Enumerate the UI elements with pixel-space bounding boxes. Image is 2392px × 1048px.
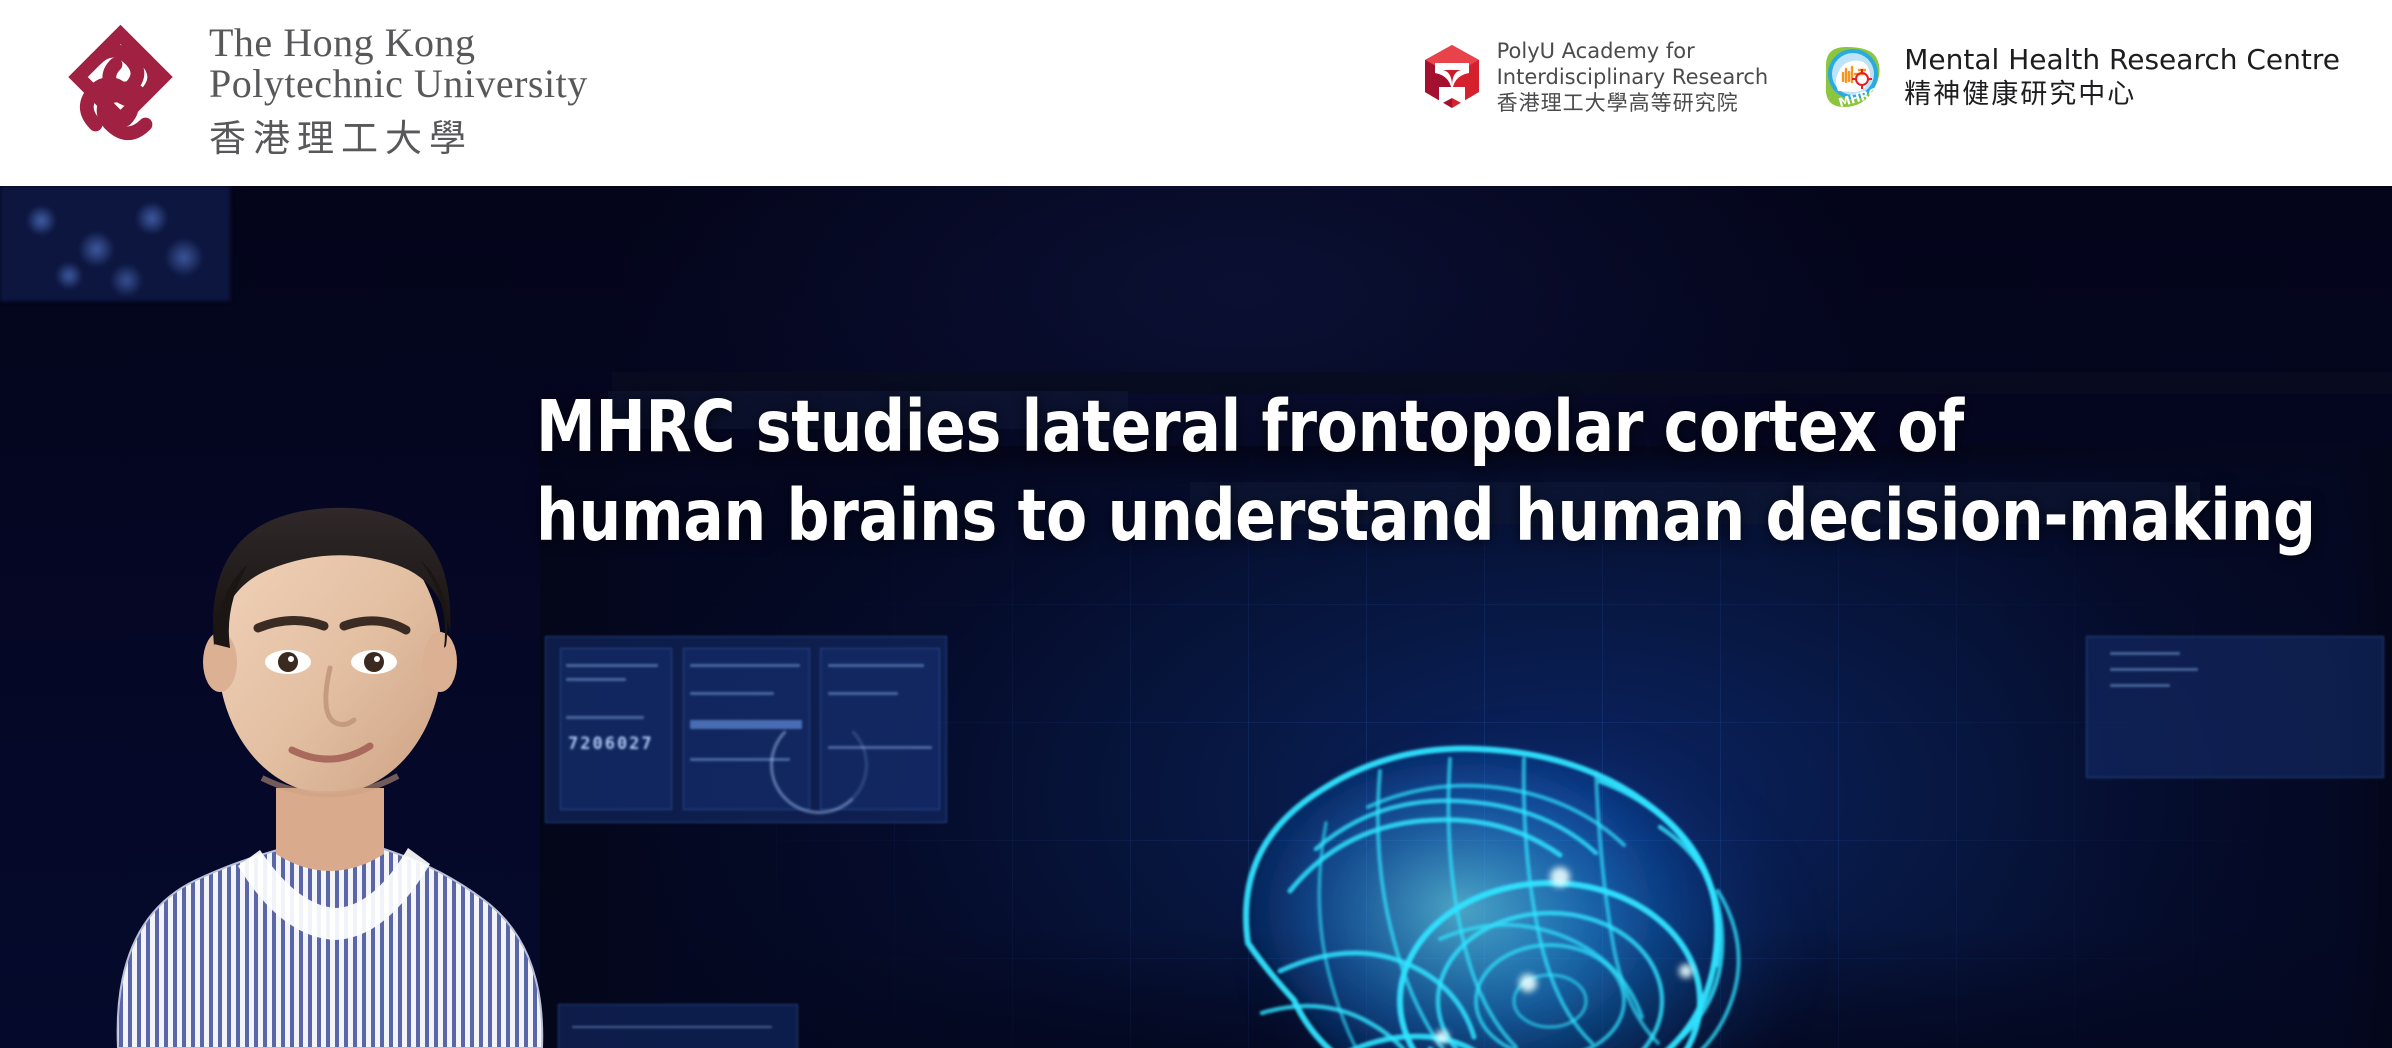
polyu-name-line1: The Hong Kong — [209, 22, 588, 63]
par-name-line2: Interdisciplinary Research — [1497, 64, 1769, 90]
mhrc-logo-lockup[interactable]: MHRC Mental Health Research Centre 精神健康研… — [1814, 39, 2340, 115]
hero-banner: 7206027 DATA CHART BAR INDICATOR — [0, 186, 2392, 1048]
hud-panel-cluster: 7206027 DATA CHART — [0, 186, 230, 301]
researcher-portrait — [110, 406, 550, 1048]
par-logo-lockup[interactable]: PolyU Academy for Interdisciplinary Rese… — [1421, 38, 1769, 116]
header-logos: PolyU Academy for Interdisciplinary Rese… — [1421, 38, 2340, 116]
mhrc-wordmark: Mental Health Research Centre 精神健康研究中心 — [1904, 42, 2340, 111]
site-header: The Hong Kong Polytechnic University 香港理… — [0, 0, 2392, 186]
page-root: The Hong Kong Polytechnic University 香港理… — [0, 0, 2392, 1048]
hud-panel-top-right — [2086, 636, 2384, 778]
hud-serial-number: 7206027 — [568, 734, 654, 754]
par-name-zh: 香港理工大學高等研究院 — [1497, 90, 1769, 116]
mhrc-name-zh: 精神健康研究中心 — [1904, 78, 2340, 112]
par-wordmark: PolyU Academy for Interdisciplinary Rese… — [1497, 38, 1769, 116]
hud-panel-cells — [0, 186, 230, 301]
polyu-name-zh: 香港理工大學 — [209, 108, 588, 162]
headline-line-1: MHRC studies lateral frontopolar cortex … — [536, 382, 2190, 471]
polyu-name-line2: Polytechnic University — [209, 63, 588, 104]
mhrc-head-icon: MHRC — [1814, 39, 1890, 115]
polyu-name-en: The Hong Kong Polytechnic University — [209, 22, 588, 104]
polyu-logo-lockup[interactable]: The Hong Kong Polytechnic University 香港理… — [58, 22, 588, 162]
mhrc-name-en: Mental Health Research Centre — [1904, 42, 2340, 77]
brain-visual — [1130, 641, 1930, 1048]
hud-subpanel-a — [560, 648, 672, 810]
hud-dial-icon — [770, 716, 868, 814]
polyu-knot-icon — [58, 22, 183, 162]
polyu-wordmark: The Hong Kong Polytechnic University 香港理… — [209, 22, 588, 162]
par-cube-icon — [1421, 43, 1483, 111]
par-name-line1: PolyU Academy for — [1497, 38, 1769, 64]
page-title: MHRC studies lateral frontopolar cortex … — [536, 382, 2296, 561]
headline-line-2: human brains to understand human decisio… — [536, 471, 2190, 560]
brain-wireframe-icon — [1130, 641, 1930, 1048]
